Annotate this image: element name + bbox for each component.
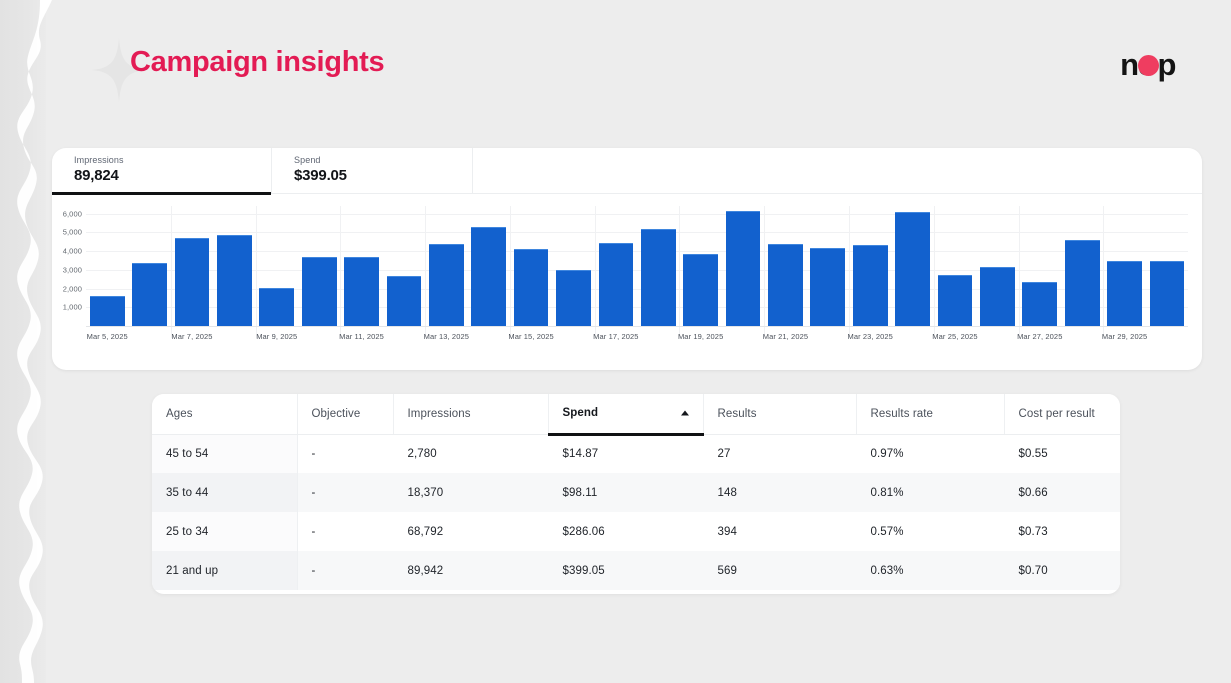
chart-bar-slot bbox=[552, 206, 594, 326]
chart-bar[interactable] bbox=[1107, 261, 1142, 326]
table-cell-results: 27 bbox=[703, 434, 856, 473]
chart-x-slot bbox=[552, 328, 594, 348]
chart-bar[interactable] bbox=[641, 229, 676, 327]
chart-x-tick-label: Mar 29, 2025 bbox=[1102, 332, 1147, 341]
chart-x-slot: Mar 27, 2025 bbox=[1019, 328, 1061, 348]
chart-bar-slot bbox=[425, 206, 467, 326]
chart-y-tick-label: 1,000 bbox=[63, 303, 82, 312]
chart-bar-slot bbox=[849, 206, 891, 326]
chart-x-slot bbox=[213, 328, 255, 348]
stat-tab-impressions[interactable]: Impressions 89,824 bbox=[52, 148, 271, 194]
table-cell-results: 569 bbox=[703, 551, 856, 590]
chart-vertical-gridline bbox=[595, 206, 596, 338]
chart-bar[interactable] bbox=[1150, 261, 1185, 326]
table-cell-cpr: $0.66 bbox=[1004, 473, 1120, 512]
chart-bar[interactable] bbox=[895, 212, 930, 326]
chart-x-tick-label: Mar 27, 2025 bbox=[1017, 332, 1062, 341]
stat-tab-spend-label: Spend bbox=[294, 155, 472, 166]
chart-x-tick-label: Mar 25, 2025 bbox=[932, 332, 977, 341]
chart-x-axis: Mar 5, 2025Mar 7, 2025Mar 9, 2025Mar 11,… bbox=[86, 328, 1188, 348]
chart-bar[interactable] bbox=[387, 276, 422, 326]
chart-x-slot: Mar 7, 2025 bbox=[171, 328, 213, 348]
table-cell-rate: 0.97% bbox=[856, 434, 1004, 473]
chart-x-slot: Mar 15, 2025 bbox=[510, 328, 552, 348]
breakdown-table-card: AgesObjectiveImpressionsSpendResultsResu… bbox=[152, 394, 1120, 594]
table-header-imp[interactable]: Impressions bbox=[393, 394, 548, 434]
table-cell-spend: $399.05 bbox=[548, 551, 703, 590]
chart-x-slot bbox=[128, 328, 170, 348]
chart-x-slot bbox=[1146, 328, 1188, 348]
table-cell-cpr: $0.73 bbox=[1004, 512, 1120, 551]
chart-bar-slot bbox=[1019, 206, 1061, 326]
page-footer: نافذلي nafezly.com 2 0 bbox=[0, 603, 1231, 683]
chart-x-tick-label: Mar 5, 2025 bbox=[87, 332, 128, 341]
chart-x-tick-label: Mar 23, 2025 bbox=[848, 332, 893, 341]
chart-bar[interactable] bbox=[1065, 240, 1100, 326]
breakdown-table: AgesObjectiveImpressionsSpendResultsResu… bbox=[152, 394, 1120, 590]
table-row[interactable]: 45 to 54-2,780$14.87270.97%$0.55 bbox=[152, 434, 1120, 473]
chart-x-slot: Mar 25, 2025 bbox=[934, 328, 976, 348]
chart-x-slot: Mar 21, 2025 bbox=[764, 328, 806, 348]
chart-bar-slot bbox=[298, 206, 340, 326]
chart-x-slot: Mar 9, 2025 bbox=[256, 328, 298, 348]
table-cell-ages: 21 and up bbox=[152, 551, 297, 590]
chart-bar-slot bbox=[468, 206, 510, 326]
chart-vertical-gridline bbox=[679, 206, 680, 338]
table-cell-cpr: $0.55 bbox=[1004, 434, 1120, 473]
chart-bar[interactable] bbox=[514, 249, 549, 326]
chart-bar-slot bbox=[86, 206, 128, 326]
table-cell-rate: 0.57% bbox=[856, 512, 1004, 551]
chart-bar-slot bbox=[213, 206, 255, 326]
chart-vertical-gridline bbox=[425, 206, 426, 338]
chart-bar[interactable] bbox=[810, 248, 845, 326]
table-cell-ages: 35 to 44 bbox=[152, 473, 297, 512]
chart-x-slot: Mar 19, 2025 bbox=[679, 328, 721, 348]
table-header-label: Ages bbox=[166, 408, 193, 420]
table-header-label: Results rate bbox=[871, 408, 934, 420]
chart-vertical-gridline bbox=[340, 206, 341, 338]
chart-bar-slot bbox=[637, 206, 679, 326]
stat-tabs: Impressions 89,824 Spend $399.05 bbox=[52, 148, 1202, 194]
table-row[interactable]: 25 to 34-68,792$286.063940.57%$0.73 bbox=[152, 512, 1120, 551]
chart-bar[interactable] bbox=[1022, 282, 1057, 326]
chart-y-tick-label: 2,000 bbox=[63, 284, 82, 293]
chart-bar-slot bbox=[976, 206, 1018, 326]
brand-logo: ne p bbox=[1120, 47, 1175, 81]
chart-y-tick-label: 3,000 bbox=[63, 265, 82, 274]
chart-bar-slot bbox=[722, 206, 764, 326]
table-body: 45 to 54-2,780$14.87270.97%$0.5535 to 44… bbox=[152, 434, 1120, 590]
chart-bar[interactable] bbox=[980, 267, 1015, 326]
stat-tab-impressions-value: 89,824 bbox=[74, 166, 271, 185]
chart-bar-slot bbox=[510, 206, 552, 326]
chart-bar-slot bbox=[383, 206, 425, 326]
chart-bar-slot bbox=[1061, 206, 1103, 326]
chart-x-axis-line bbox=[86, 326, 1188, 327]
chart-x-tick-label: Mar 17, 2025 bbox=[593, 332, 638, 341]
chart-bar[interactable] bbox=[599, 243, 634, 326]
chart-bar[interactable] bbox=[556, 270, 591, 326]
chart-x-tick-label: Mar 7, 2025 bbox=[171, 332, 212, 341]
chart-x-tick-label: Mar 15, 2025 bbox=[508, 332, 553, 341]
chart-x-slot: Mar 23, 2025 bbox=[849, 328, 891, 348]
chart-bar[interactable] bbox=[344, 257, 379, 326]
table-header-label: Objective bbox=[312, 408, 361, 420]
chart-bar[interactable] bbox=[175, 238, 210, 326]
chart-x-slot bbox=[468, 328, 510, 348]
chart-vertical-gridline bbox=[934, 206, 935, 338]
chart-bar-slot bbox=[764, 206, 806, 326]
chart-bar[interactable] bbox=[90, 296, 125, 326]
chart-vertical-gridline bbox=[256, 206, 257, 338]
page-title: Campaign insights bbox=[130, 46, 384, 79]
chart-bar[interactable] bbox=[683, 254, 718, 326]
table-header-rate[interactable]: Results rate bbox=[856, 394, 1004, 434]
table-cell-rate: 0.81% bbox=[856, 473, 1004, 512]
chart-card: Impressions 89,824 Spend $399.05 6,0005,… bbox=[52, 148, 1202, 370]
table-cell-objective: - bbox=[297, 512, 393, 551]
table-cell-imp: 2,780 bbox=[393, 434, 548, 473]
brand-logo-dot-icon bbox=[1138, 55, 1159, 76]
table-cell-rate: 0.63% bbox=[856, 551, 1004, 590]
chart-vertical-gridline bbox=[849, 206, 850, 338]
chart-x-tick-label: Mar 11, 2025 bbox=[339, 332, 384, 341]
table-cell-spend: $14.87 bbox=[548, 434, 703, 473]
chart-bar[interactable] bbox=[259, 288, 294, 326]
chart-bar-slot bbox=[340, 206, 382, 326]
table-cell-ages: 25 to 34 bbox=[152, 512, 297, 551]
chart-x-slot: Mar 11, 2025 bbox=[340, 328, 382, 348]
table-cell-objective: - bbox=[297, 473, 393, 512]
table-header-label: Impressions bbox=[408, 408, 471, 420]
table-cell-results: 394 bbox=[703, 512, 856, 551]
chart-bar[interactable] bbox=[132, 263, 167, 326]
chart-bar[interactable] bbox=[429, 244, 464, 326]
chart-bar-slot bbox=[891, 206, 933, 326]
chart-vertical-gridline bbox=[1019, 206, 1020, 338]
page-left-shade bbox=[0, 0, 46, 683]
table-cell-objective: - bbox=[297, 434, 393, 473]
chart-bar-slot bbox=[679, 206, 721, 326]
stat-tab-spend-value: $399.05 bbox=[294, 166, 472, 185]
table-cell-results: 148 bbox=[703, 473, 856, 512]
chart-vertical-gridline bbox=[1103, 206, 1104, 338]
chart-bar-slot bbox=[171, 206, 213, 326]
chart-bar-slot bbox=[1146, 206, 1188, 326]
stat-tab-empty bbox=[472, 148, 1202, 194]
chart-x-slot bbox=[1061, 328, 1103, 348]
table-cell-objective: - bbox=[297, 551, 393, 590]
chart-x-tick-label: Mar 13, 2025 bbox=[424, 332, 469, 341]
chart-x-slot bbox=[722, 328, 764, 348]
chart-x-slot bbox=[383, 328, 425, 348]
chart-vertical-gridline bbox=[171, 206, 172, 338]
chart-bar[interactable] bbox=[471, 227, 506, 326]
impressions-bar-chart: 6,0005,0004,0003,0002,0001,000 Mar 5, 20… bbox=[52, 194, 1202, 370]
table-header-ages[interactable]: Ages bbox=[152, 394, 297, 434]
sort-ascending-icon[interactable] bbox=[681, 411, 689, 416]
chart-bar-slot bbox=[595, 206, 637, 326]
stat-tab-spend[interactable]: Spend $399.05 bbox=[271, 148, 472, 194]
chart-bar-slot bbox=[128, 206, 170, 326]
chart-bar[interactable] bbox=[768, 244, 803, 327]
chart-vertical-gridline bbox=[764, 206, 765, 338]
table-head: AgesObjectiveImpressionsSpendResultsResu… bbox=[152, 394, 1120, 434]
table-cell-spend: $98.11 bbox=[548, 473, 703, 512]
table-header-label: Cost per result bbox=[1019, 408, 1095, 420]
chart-x-slot: Mar 13, 2025 bbox=[425, 328, 467, 348]
chart-y-tick-label: 5,000 bbox=[63, 228, 82, 237]
chart-y-tick-label: 4,000 bbox=[63, 247, 82, 256]
chart-x-slot bbox=[298, 328, 340, 348]
chart-x-slot bbox=[807, 328, 849, 348]
chart-x-slot bbox=[891, 328, 933, 348]
chart-y-tick-label: 6,000 bbox=[63, 209, 82, 218]
brand-logo-text-tail: p bbox=[1157, 49, 1175, 80]
table-row[interactable]: 21 and up-89,942$399.055690.63%$0.70 bbox=[152, 551, 1120, 590]
chart-x-slot: Mar 29, 2025 bbox=[1103, 328, 1145, 348]
table-cell-ages: 45 to 54 bbox=[152, 434, 297, 473]
table-cell-imp: 18,370 bbox=[393, 473, 548, 512]
chart-x-slot: Mar 17, 2025 bbox=[595, 328, 637, 348]
stat-tab-impressions-label: Impressions bbox=[74, 155, 271, 166]
chart-bar[interactable] bbox=[302, 257, 337, 326]
chart-bar-slot bbox=[807, 206, 849, 326]
table-cell-cpr: $0.70 bbox=[1004, 551, 1120, 590]
chart-x-slot bbox=[637, 328, 679, 348]
chart-x-tick-label: Mar 21, 2025 bbox=[763, 332, 808, 341]
table-cell-imp: 89,942 bbox=[393, 551, 548, 590]
chart-y-axis: 6,0005,0004,0003,0002,0001,000 bbox=[52, 206, 86, 326]
chart-x-slot: Mar 5, 2025 bbox=[86, 328, 128, 348]
table-header-spend[interactable]: Spend bbox=[548, 394, 703, 434]
table-header-objective[interactable]: Objective bbox=[297, 394, 393, 434]
chart-vertical-gridline bbox=[510, 206, 511, 338]
chart-x-tick-label: Mar 19, 2025 bbox=[678, 332, 723, 341]
chart-bars bbox=[86, 206, 1188, 326]
page-header: Campaign insights ne p bbox=[0, 0, 1231, 130]
table-header-row: AgesObjectiveImpressionsSpendResultsResu… bbox=[152, 394, 1120, 434]
chart-bar[interactable] bbox=[217, 235, 252, 326]
chart-x-slot bbox=[976, 328, 1018, 348]
chart-bar-slot bbox=[256, 206, 298, 326]
chart-bar-slot bbox=[1103, 206, 1145, 326]
table-cell-spend: $286.06 bbox=[548, 512, 703, 551]
table-header-cpr[interactable]: Cost per result bbox=[1004, 394, 1120, 434]
table-header-label: Spend bbox=[563, 407, 599, 419]
table-header-results[interactable]: Results bbox=[703, 394, 856, 434]
table-cell-imp: 68,792 bbox=[393, 512, 548, 551]
table-header-label: Results bbox=[718, 408, 757, 420]
chart-bar[interactable] bbox=[726, 211, 761, 326]
chart-bar[interactable] bbox=[853, 245, 888, 326]
table-row[interactable]: 35 to 44-18,370$98.111480.81%$0.66 bbox=[152, 473, 1120, 512]
chart-bar[interactable] bbox=[938, 275, 973, 326]
chart-x-tick-label: Mar 9, 2025 bbox=[256, 332, 297, 341]
chart-bar-slot bbox=[934, 206, 976, 326]
